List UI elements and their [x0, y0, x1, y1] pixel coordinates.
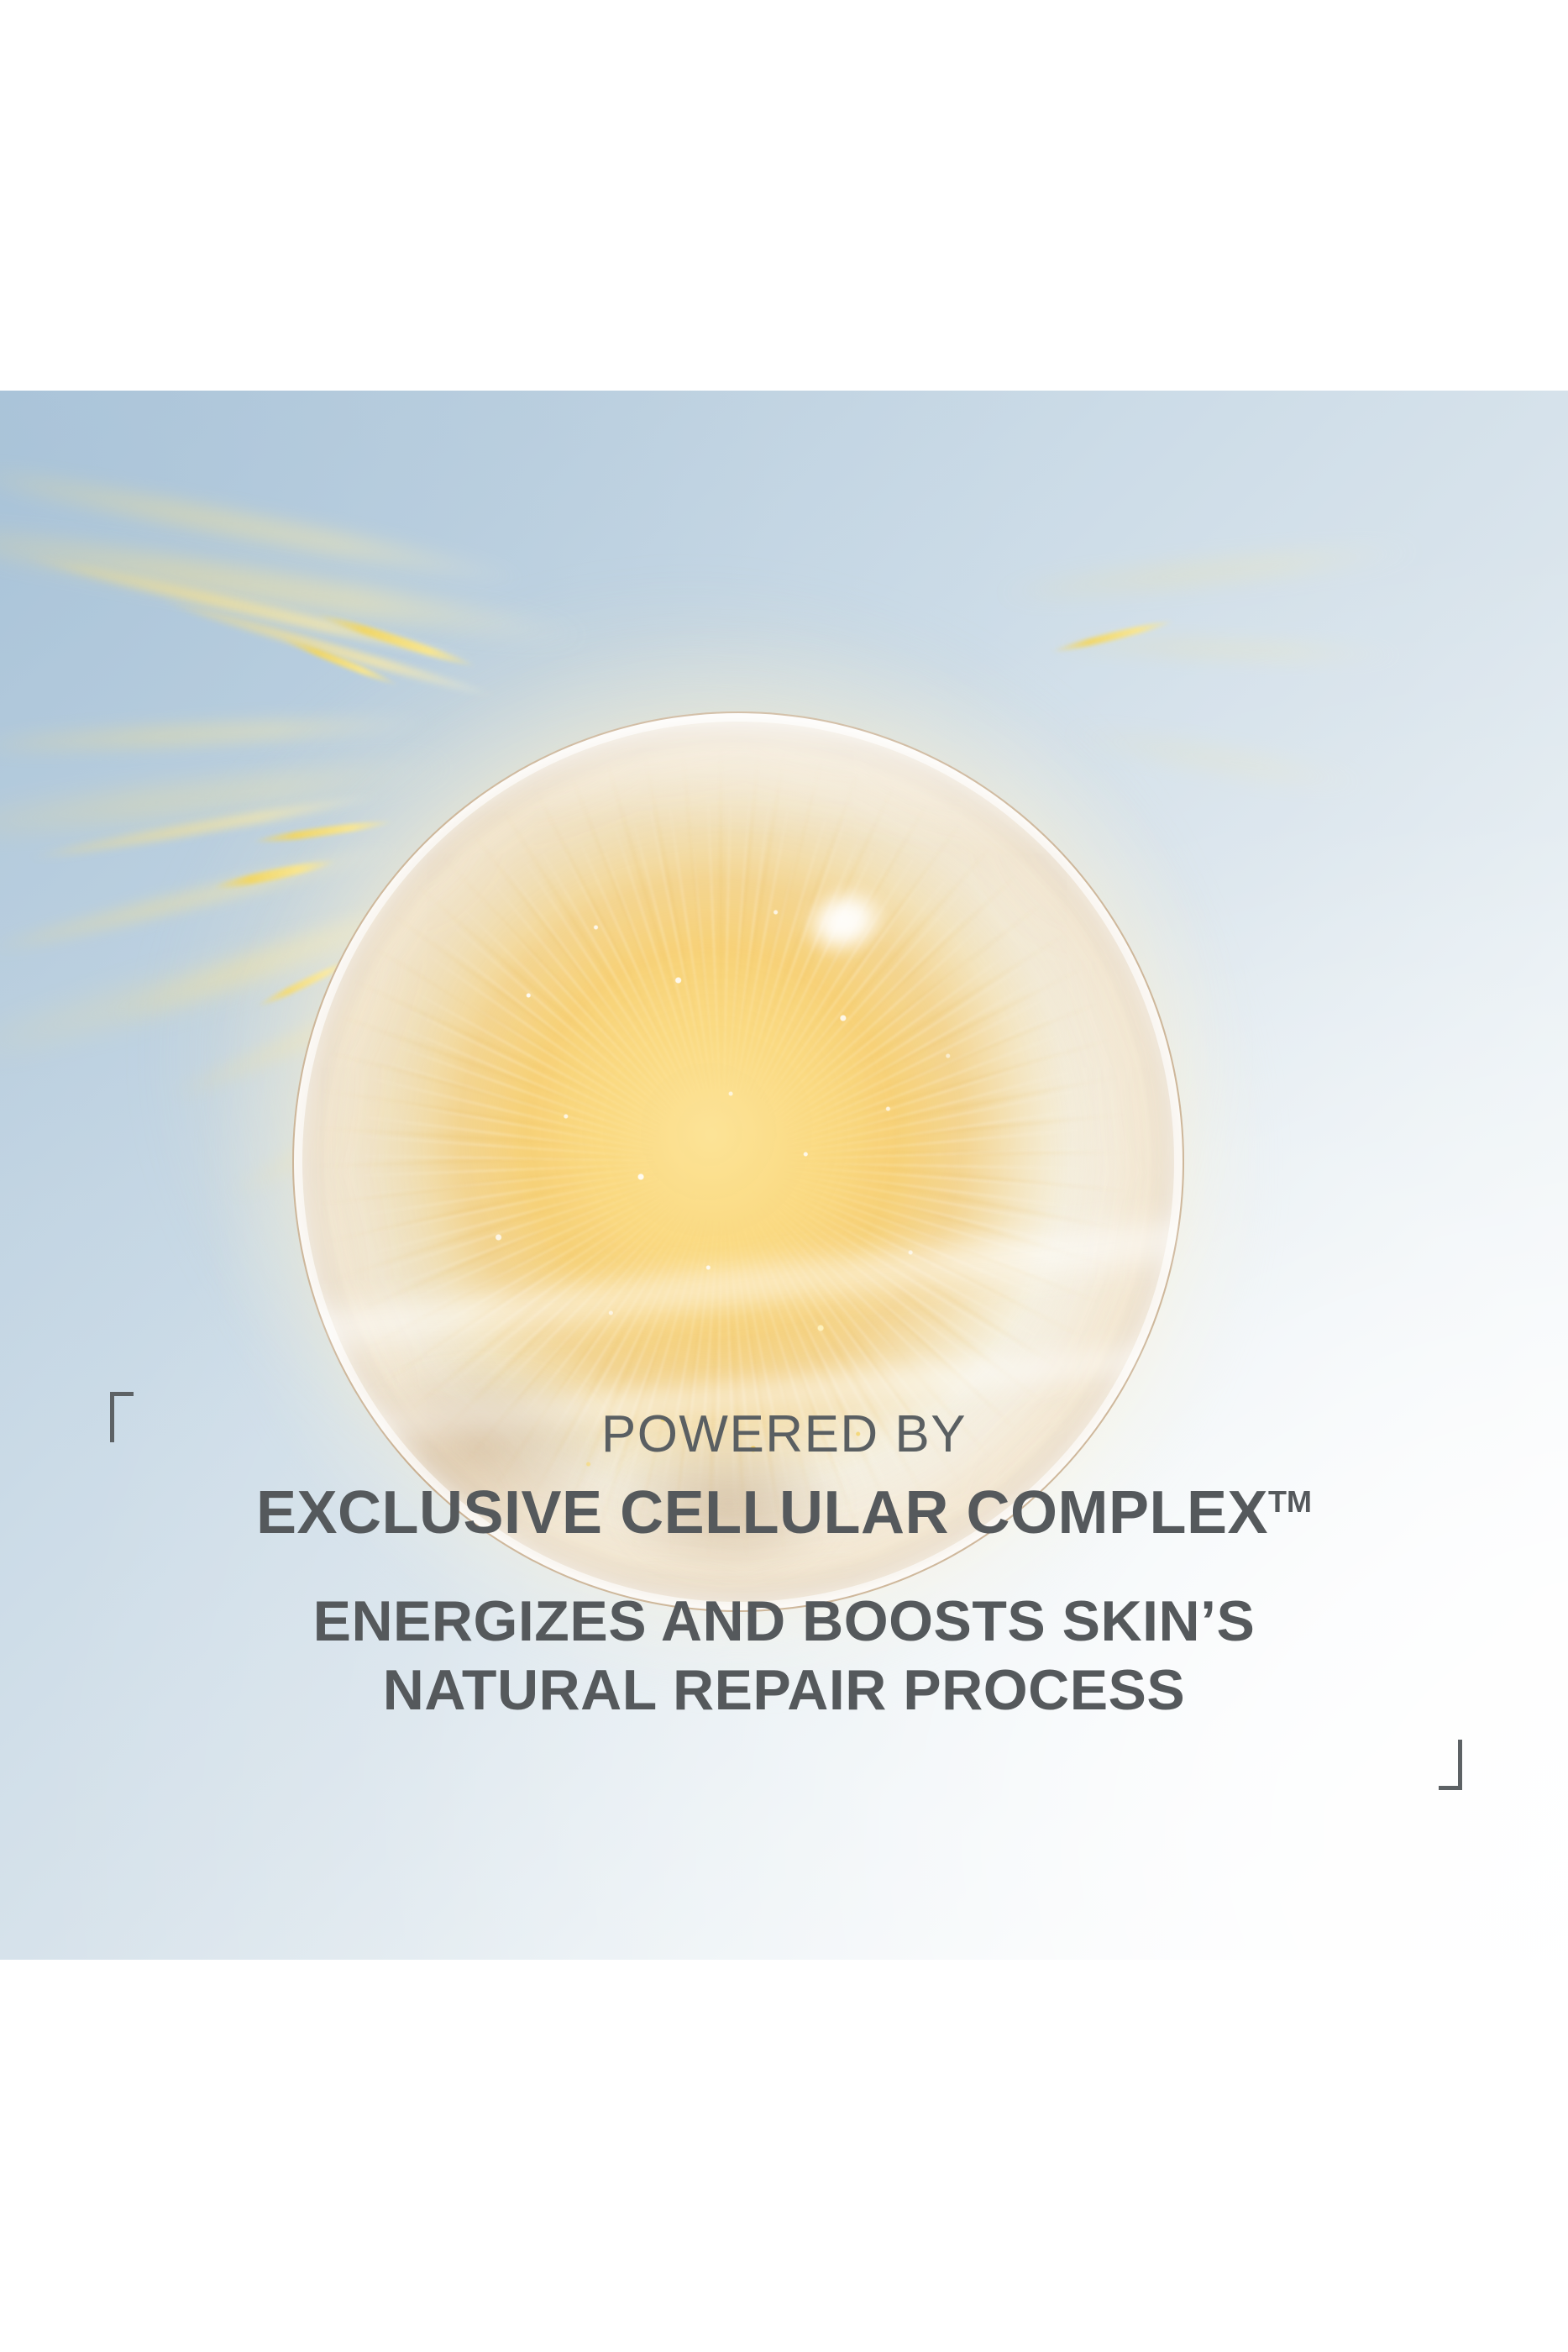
splash-streak	[991, 541, 1427, 603]
sphere-body	[292, 711, 1184, 1612]
sphere-shadow-accent	[613, 1432, 845, 1612]
serum-sphere	[292, 711, 1184, 1612]
sphere-shadow-accent	[346, 1360, 614, 1576]
page-root: POWERED BY EXCLUSIVE CELLULAR COMPLEXTM …	[0, 0, 1568, 2352]
hero-image: POWERED BY EXCLUSIVE CELLULAR COMPLEXTM …	[0, 391, 1568, 1960]
